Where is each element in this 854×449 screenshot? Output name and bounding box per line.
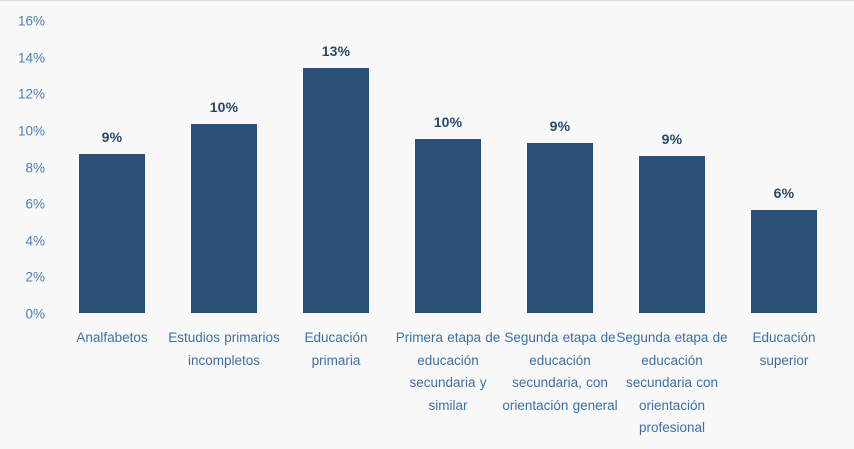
y-axis-tick-6: 6%	[0, 197, 45, 211]
x-axis-category-label: Segunda etapa de educación secundaria co…	[614, 327, 730, 440]
bar-value-label: 9%	[616, 132, 728, 146]
bar-group[interactable]: 6% Educación superior	[728, 0, 840, 448]
y-axis-tick-14: 14%	[0, 51, 45, 65]
x-axis-category-label: Segunda etapa de educación secundaria, c…	[502, 327, 618, 417]
y-axis-tick-4: 4%	[0, 234, 45, 248]
bar-group[interactable]: 9% Segunda etapa de educación secundaria…	[504, 0, 616, 448]
bar-value-label: 10%	[168, 100, 280, 114]
bar-value-label: 9%	[504, 119, 616, 133]
bar-rect[interactable]	[527, 143, 593, 313]
bar-value-label: 6%	[728, 186, 840, 200]
x-axis-category-label: Educación primaria	[278, 327, 394, 372]
x-axis-category-label: Analfabetos	[54, 327, 170, 350]
bar-chart: 16% 14% 12% 10% 8% 6% 4% 2% 0% 9% Analfa…	[0, 0, 854, 448]
bar-group[interactable]: 9% Segunda etapa de educación secundaria…	[616, 0, 728, 448]
x-axis-category-label: Estudios primarios incompletos	[166, 327, 282, 372]
bar-value-label: 13%	[280, 44, 392, 58]
bar-group[interactable]: 9% Analfabetos	[56, 0, 168, 448]
y-axis-tick-16: 16%	[0, 14, 45, 28]
bar-rect[interactable]	[191, 124, 257, 313]
bar-group[interactable]: 10% Primera etapa de educación secundari…	[392, 0, 504, 448]
bar-rect[interactable]	[415, 139, 481, 313]
bar-rect[interactable]	[639, 156, 705, 313]
bar-group[interactable]: 10% Estudios primarios incompletos	[168, 0, 280, 448]
y-axis-tick-2: 2%	[0, 271, 45, 285]
y-axis-tick-0: 0%	[0, 307, 45, 321]
bars-layer: 9% Analfabetos 10% Estudios primarios in…	[56, 1, 854, 448]
bar-rect[interactable]	[303, 68, 369, 313]
bar-group[interactable]: 13% Educación primaria	[280, 0, 392, 448]
bar-value-label: 9%	[56, 130, 168, 144]
x-axis-category-label: Educación superior	[726, 327, 842, 372]
y-axis-tick-10: 10%	[0, 124, 45, 138]
y-axis-tick-12: 12%	[0, 87, 45, 101]
bar-value-label: 10%	[392, 115, 504, 129]
bar-rect[interactable]	[79, 154, 145, 313]
plot-area: 9% Analfabetos 10% Estudios primarios in…	[56, 1, 854, 448]
y-axis: 16% 14% 12% 10% 8% 6% 4% 2% 0%	[0, 1, 56, 449]
y-axis-tick-8: 8%	[0, 161, 45, 175]
bar-rect[interactable]	[751, 210, 817, 313]
x-axis-category-label: Primera etapa de educación secundaria y …	[390, 327, 506, 417]
